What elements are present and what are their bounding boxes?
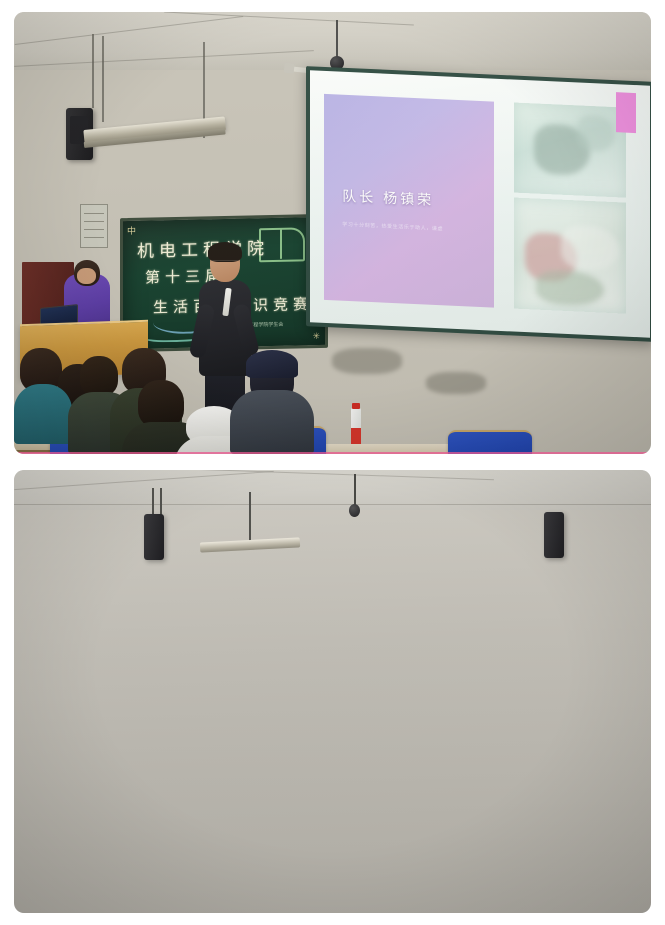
audience-cap (246, 350, 298, 378)
wall-stain (426, 372, 486, 394)
seat (448, 430, 532, 454)
ceiling-cable (336, 20, 338, 58)
speaker-hair (208, 242, 242, 262)
slide-subtitle-top: 学习十分刻苦，热爱生活乐于助人，谦虚 (342, 220, 478, 235)
slide-photo-reading (514, 198, 626, 314)
ceiling-rod (102, 36, 104, 122)
audience-head (80, 356, 118, 396)
ceiling-rod (249, 492, 251, 542)
hanging-microphone-icon (349, 504, 360, 517)
wall-notice-small (80, 204, 108, 248)
lecture-hall-scene-bottom: 机电工程学院 第十三届 生活百科知识竞赛 主办:机电工程学院 承办:机电工程学院… (14, 470, 651, 913)
photo-edge-line (14, 452, 651, 454)
bottle-cap (352, 403, 360, 409)
audience-wide-shot-photo: 机电工程学院 第十三届 生活百科知识竞赛 主办:机电工程学院 承办:机电工程学院… (14, 470, 651, 913)
slide-title-top: 队长 杨镇荣 (342, 185, 434, 209)
ceiling-seam (14, 504, 651, 505)
lecture-hall-scene-top: 中 中 ✳ ✳ 机电工程学院 第十三届 生活百科知识竞赛 主办:机电工程学院学生… (14, 12, 651, 454)
speaker-presenting-photo: 中 中 ✳ ✳ 机电工程学院 第十三届 生活百科知识竞赛 主办:机电工程学院学生… (14, 12, 651, 454)
staff-face (77, 268, 96, 284)
slide-left-panel: 队长 杨镇荣 学习十分刻苦，热爱生活乐于助人，谦虚 (324, 94, 494, 308)
audience-head (138, 380, 184, 428)
projector-screen-frame-top: 队长 杨镇荣 学习十分刻苦，热爱生活乐于助人，谦虚 (306, 66, 651, 342)
wall-speaker-icon (544, 512, 564, 558)
speaker-glasses-icon (212, 260, 238, 266)
slide-photo-study (514, 102, 626, 198)
ceiling-cable (354, 474, 356, 506)
slide-pink-accent (616, 92, 636, 133)
chalk-corner-icon: 中 (127, 224, 136, 237)
chalk-corner-icon: ✳ (312, 331, 320, 342)
photo-collage: 中 中 ✳ ✳ 机电工程学院 第十三届 生活百科知识竞赛 主办:机电工程学院学生… (0, 0, 665, 925)
projector-screen-top: 队长 杨镇荣 学习十分刻苦，热爱生活乐于助人，谦虚 (310, 70, 650, 337)
ceiling-rod (92, 34, 94, 108)
bottle-label (351, 428, 361, 444)
audience-shoulder (230, 390, 314, 454)
blackboard-line-1: 机电工程学院 (137, 234, 269, 262)
audience-shoulder (14, 384, 72, 444)
wall-speaker-icon (144, 514, 164, 560)
wall-stain (332, 348, 402, 374)
